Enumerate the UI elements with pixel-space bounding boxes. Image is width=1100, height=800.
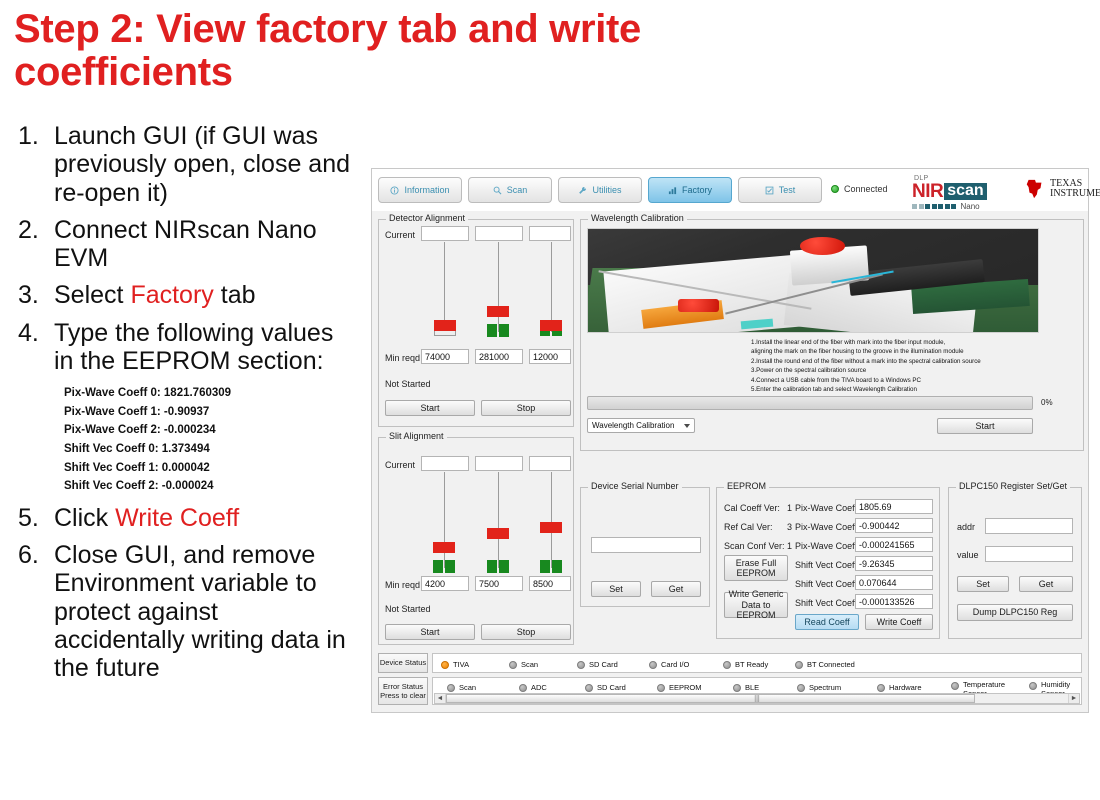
shift-vect-coeff-0-label: Shift Vect Coeff 0: [795, 560, 864, 570]
logo-square: [938, 204, 943, 209]
list-item-text: Connect NIRscan Nano EVM: [54, 216, 354, 273]
value-input[interactable]: [985, 546, 1073, 562]
slit-slider-track-0: [444, 472, 445, 568]
detector-current-input-2[interactable]: [529, 226, 571, 241]
led-label: Scan: [521, 660, 538, 669]
slit-current-input-2[interactable]: [529, 456, 571, 471]
write-generic-line-1: Write Generic: [729, 589, 784, 599]
detector-slider-knob-2[interactable]: [540, 320, 562, 331]
error-status-item-ble[interactable]: BLE: [733, 683, 759, 692]
led-label: SD Card: [597, 683, 626, 692]
list-item-text: Click Write Coeff: [54, 504, 354, 532]
status-led-icon: [441, 661, 449, 669]
shift-vect-coeff-2-label: Shift Vect Coeff 2: [795, 598, 864, 608]
status-led-icon: [795, 661, 803, 669]
coefficient-line: Shift Vec Coeff 0: 1.373494: [64, 440, 364, 459]
connection-status: Connected: [831, 184, 888, 194]
calibration-progress-bar: [587, 396, 1033, 410]
status-led-icon: [585, 684, 593, 692]
scrollbar-gutter[interactable]: |||: [446, 694, 1068, 703]
slit-slider-green-1: [487, 560, 509, 573]
tab-label: Scan: [507, 185, 528, 195]
led-label: Scan: [459, 683, 476, 692]
list-item-number: 1.: [8, 122, 54, 150]
slit-slider-knob-0[interactable]: [433, 542, 455, 553]
status-led-icon: [649, 661, 657, 669]
instruction-line: 1.Install the linear end of the fiber wi…: [751, 338, 981, 347]
shift-vect-coeff-2-input[interactable]: -0.000133526: [855, 594, 933, 609]
coefficient-line: Pix-Wave Coeff 1: -0.90937: [64, 403, 364, 422]
list-item-text: Launch GUI (if GUI was previously open, …: [54, 122, 354, 207]
led-label: ADC: [531, 683, 547, 692]
slit-slider-green-0: [433, 560, 455, 573]
current-label: Current: [385, 460, 415, 470]
panel-title: Slit Alignment: [386, 431, 447, 441]
info-icon: [390, 186, 399, 195]
device-status-item-bt-connected[interactable]: BT Connected: [795, 660, 855, 669]
tab-utilities[interactable]: Utilities: [558, 177, 642, 203]
ti-line-2: INSTRUMENTS: [1050, 189, 1100, 199]
tab-scan[interactable]: Scan: [468, 177, 552, 203]
addr-label: addr: [957, 522, 975, 532]
eeprom-panel: EEPROM Cal Coeff Ver: 1 Ref Cal Ver: 3 S…: [716, 487, 940, 639]
scroll-right-arrow-icon[interactable]: ►: [1068, 694, 1079, 703]
device-status-item-sd-card[interactable]: SD Card: [577, 660, 618, 669]
list-item-number: 2.: [8, 216, 54, 244]
detector-slider-track-1: [498, 242, 499, 332]
logo-square: [912, 204, 917, 209]
tab-bar: Information Scan Utilities Factory Test: [372, 169, 1088, 211]
error-status-item-sd-card[interactable]: SD Card: [585, 683, 626, 692]
value-label: value: [957, 550, 979, 560]
logo-nir-text: NIR: [912, 182, 943, 201]
write-generic-data-button[interactable]: Write Generic Data to EEPROM: [724, 592, 788, 618]
led-label: EEPROM: [669, 683, 702, 692]
detector-min-input-0[interactable]: 74000: [421, 349, 469, 364]
tab-label: Information: [404, 185, 449, 195]
tab-information[interactable]: Information: [378, 177, 462, 203]
register-set-button[interactable]: Set: [957, 576, 1009, 592]
led-label: BT Ready: [735, 660, 768, 669]
ref-cal-ver-value: 3: [787, 522, 792, 532]
error-status-item-scan[interactable]: Scan: [447, 683, 476, 692]
tab-label: Factory: [682, 185, 712, 195]
shift-vect-coeff-1-input[interactable]: 0.070644: [855, 575, 933, 590]
slit-slider-track-1: [498, 472, 499, 568]
status-led-icon: [657, 684, 665, 692]
status-led-icon: [877, 684, 885, 692]
detector-min-input-2[interactable]: 12000: [529, 349, 571, 364]
device-status-item-card-io[interactable]: Card I/O: [649, 660, 689, 669]
list-item-text-post: tab: [214, 281, 256, 309]
list-item-text-pre: Click: [54, 504, 115, 532]
scan-conf-ver-value: 1: [787, 541, 792, 551]
scan-conf-ver-label: Scan Conf Ver:: [724, 541, 785, 551]
tab-factory[interactable]: Factory: [648, 177, 732, 203]
calibration-mode-select[interactable]: Wavelength Calibration: [587, 418, 695, 433]
status-led-icon: [577, 661, 585, 669]
list-item-number: 5.: [8, 504, 54, 532]
pix-wave-coeff-0-input[interactable]: 1805.69: [855, 499, 933, 514]
list-item: 5. Click Write Coeff: [8, 504, 368, 532]
coefficient-line: Pix-Wave Coeff 2: -0.000234: [64, 421, 364, 440]
slit-slider-track-2: [551, 472, 552, 568]
write-coeff-button[interactable]: Write Coeff: [865, 614, 933, 630]
min-reqd-label: Min reqd: [385, 353, 420, 363]
led-label: BT Connected: [807, 660, 855, 669]
tab-label: Utilities: [592, 185, 621, 195]
shift-vect-coeff-0-input[interactable]: -9.26345: [855, 556, 933, 571]
device-status-item-tiva[interactable]: TIVA: [441, 660, 469, 669]
panel-title: EEPROM: [724, 481, 769, 491]
logo-square: [919, 204, 924, 209]
wavelength-calibration-panel: Wavelength Calibration 1.Install the lin…: [580, 219, 1084, 451]
slit-status-text: Not Started: [385, 604, 431, 614]
dlpc150-register-panel: DLPC150 Register Set/Get addr value Set …: [948, 487, 1082, 639]
list-item: 1. Launch GUI (if GUI was previously ope…: [8, 122, 368, 207]
slit-min-input-1[interactable]: 7500: [475, 576, 523, 591]
slit-start-button[interactable]: Start: [385, 624, 475, 640]
led-label: SD Card: [589, 660, 618, 669]
nirscan-gui-window: Information Scan Utilities Factory Test: [371, 168, 1089, 713]
detector-slider-green-1: [487, 324, 509, 337]
error-status-line-1: Error Status: [383, 682, 423, 691]
device-status-label: Device Status: [378, 653, 428, 673]
erase-full-eeprom-line-1: Erase Full: [736, 558, 777, 568]
detector-current-input-1[interactable]: [475, 226, 523, 241]
wrench-icon: [578, 186, 587, 195]
status-led-icon: [951, 682, 959, 690]
slit-min-input-0[interactable]: 4200: [421, 576, 469, 591]
status-led-icon: [447, 684, 455, 692]
erase-full-eeprom-button[interactable]: Erase Full EEPROM: [724, 555, 788, 581]
slit-min-input-2[interactable]: 8500: [529, 576, 571, 591]
led-label: Spectrum: [809, 683, 841, 692]
calibration-mode-value: Wavelength Calibration: [592, 421, 674, 430]
error-status-line-2: Press to clear: [380, 691, 426, 700]
error-status-item-spectrum[interactable]: Spectrum: [797, 683, 841, 692]
calibration-start-button[interactable]: Start: [937, 418, 1033, 434]
page-title: Step 2: View factory tab and write coeff…: [14, 8, 814, 94]
instruction-line: aligning the mark on the fiber housing t…: [751, 347, 981, 356]
instruction-line: 5.Enter the calibration tab and select W…: [751, 385, 981, 394]
status-led-icon: [831, 185, 839, 193]
detector-slider-track-2: [551, 242, 552, 332]
checklist-icon: [765, 186, 774, 195]
list-item-text: Type the following values in the EEPROM …: [54, 319, 354, 376]
steps-list: 1. Launch GUI (if GUI was previously ope…: [8, 122, 368, 691]
error-status-clear-button[interactable]: Error Status Press to clear: [378, 677, 428, 705]
coefficient-line: Shift Vec Coeff 1: 0.000042: [64, 459, 364, 478]
device-serial-number-panel: Device Serial Number Set Get: [580, 487, 710, 607]
led-label: Card I/O: [661, 660, 689, 669]
detector-slider-knob-0[interactable]: [434, 320, 456, 331]
logo-nano-text: Nano: [961, 202, 980, 211]
slit-slider-knob-2[interactable]: [540, 522, 562, 533]
detector-start-button[interactable]: Start: [385, 400, 475, 416]
write-generic-line-2: Data to EEPROM: [725, 600, 787, 621]
status-led-icon: [723, 661, 731, 669]
coefficient-line: Shift Vec Coeff 2: -0.000024: [64, 477, 364, 496]
slit-alignment-panel: Slit Alignment Current Min reqd 4200 750…: [378, 437, 574, 645]
slit-slider-knob-1[interactable]: [487, 528, 509, 539]
detector-min-input-1[interactable]: 281000: [475, 349, 523, 364]
led-label: Hardware: [889, 683, 922, 692]
logo-square: [932, 204, 937, 209]
coefficient-values-list: Pix-Wave Coeff 0: 1821.760309 Pix-Wave C…: [64, 384, 364, 496]
error-status-item-adc[interactable]: ADC: [519, 683, 547, 692]
device-status-box: TIVA Scan SD Card Card I/O BT Ready BT C…: [432, 653, 1082, 673]
read-coeff-button[interactable]: Read Coeff: [795, 614, 859, 630]
led-label: BLE: [745, 683, 759, 692]
error-status-item-eeprom[interactable]: EEPROM: [657, 683, 702, 692]
logo-square: [951, 204, 956, 209]
detector-current-input-0[interactable]: [421, 226, 469, 241]
scrollbar-grip-icon: |||: [754, 695, 759, 702]
min-reqd-label: Min reqd: [385, 580, 420, 590]
slit-current-input-1[interactable]: [475, 456, 523, 471]
detector-slider-knob-1[interactable]: [487, 306, 509, 317]
list-item: 2. Connect NIRscan Nano EVM: [8, 216, 368, 273]
slit-current-input-0[interactable]: [421, 456, 469, 471]
pix-wave-coeff-1-input[interactable]: -0.900442: [855, 518, 933, 533]
slit-stop-button[interactable]: Stop: [481, 624, 571, 640]
status-badge: Connected: [844, 184, 888, 194]
detector-status-text: Not Started: [385, 379, 431, 389]
coefficient-line: Pix-Wave Coeff 0: 1821.760309: [64, 384, 364, 403]
error-status-item-hardware[interactable]: Hardware: [877, 683, 922, 692]
list-item: 3. Select Factory tab: [8, 281, 368, 309]
shift-vect-coeff-1-label: Shift Vect Coeff 1: [795, 579, 864, 589]
register-get-button[interactable]: Get: [1019, 576, 1073, 592]
status-led-icon: [1029, 682, 1037, 690]
detector-alignment-panel: Detector Alignment Current Min reqd 7400…: [378, 219, 574, 427]
device-status-text: Device Status: [380, 658, 426, 667]
progress-percent-label: 0%: [1041, 398, 1053, 407]
status-led-icon: [509, 661, 517, 669]
list-item: 6. Close GUI, and remove Environment var…: [8, 541, 368, 682]
slit-slider-green-2: [540, 560, 562, 573]
list-item-text: Close GUI, and remove Environment variab…: [54, 541, 354, 682]
list-item-number: 6.: [8, 541, 54, 569]
logo-square: [945, 204, 950, 209]
tab-test[interactable]: Test: [738, 177, 822, 203]
texas-state-icon: [1024, 178, 1046, 200]
magnifier-icon: [493, 186, 502, 195]
pix-wave-coeff-2-input[interactable]: -0.000241565: [855, 537, 933, 552]
list-item-text-pre: Select: [54, 281, 130, 309]
serial-get-button[interactable]: Get: [651, 581, 701, 597]
tab-label: Test: [779, 185, 796, 195]
logo-square: [925, 204, 930, 209]
serial-set-button[interactable]: Set: [591, 581, 641, 597]
list-item-number: 3.: [8, 281, 54, 309]
erase-full-eeprom-line-2: EEPROM: [736, 568, 775, 578]
list-item-highlight: Factory: [130, 281, 213, 309]
cal-coeff-ver-label: Cal Coeff Ver:: [724, 503, 780, 513]
list-item-text: Select Factory tab: [54, 281, 354, 309]
scroll-left-arrow-icon[interactable]: ◄: [435, 694, 446, 703]
panel-title: Detector Alignment: [386, 213, 468, 223]
instruction-line: 3.Power on the spectral calibration sour…: [751, 366, 981, 375]
serial-number-input[interactable]: [591, 537, 701, 553]
ti-wordmark: TEXAS INSTRUMENTS: [1050, 179, 1100, 199]
panel-title: Device Serial Number: [588, 481, 682, 491]
texas-instruments-logo: TEXAS INSTRUMENTS: [1024, 178, 1100, 200]
list-item-number: 4.: [8, 319, 54, 347]
list-item: 4. Type the following values in the EEPR…: [8, 319, 368, 376]
nirscan-logo: DLP NIR scan Nano: [912, 175, 1016, 211]
bar-chart-icon: [668, 186, 677, 195]
panel-title: DLPC150 Register Set/Get: [956, 481, 1070, 491]
calibration-setup-photo: [587, 228, 1039, 333]
dump-dlpc150-reg-button[interactable]: Dump DLPC150 Reg: [957, 604, 1073, 621]
calibration-instructions: 1.Install the linear end of the fiber wi…: [751, 338, 981, 404]
ref-cal-ver-label: Ref Cal Ver:: [724, 522, 773, 532]
device-status-item-scan[interactable]: Scan: [509, 660, 538, 669]
logo-scan-text: scan: [944, 183, 986, 200]
cal-coeff-ver-value: 1: [787, 503, 792, 513]
led-label: TIVA: [453, 660, 469, 669]
detector-slider-track-0: [444, 242, 445, 332]
status-led-icon: [733, 684, 741, 692]
instruction-line: 4.Connect a USB cable from the TIVA boar…: [751, 376, 981, 385]
chevron-down-icon: [684, 424, 690, 428]
status-led-icon: [519, 684, 527, 692]
device-status-item-bt-ready[interactable]: BT Ready: [723, 660, 768, 669]
error-status-horizontal-scrollbar[interactable]: ◄ ||| ►: [434, 693, 1080, 704]
scrollbar-thumb[interactable]: |||: [446, 694, 975, 703]
instruction-line: 2.Install the round end of the fiber wit…: [751, 357, 981, 366]
current-label: Current: [385, 230, 415, 240]
detector-stop-button[interactable]: Stop: [481, 400, 571, 416]
addr-input[interactable]: [985, 518, 1073, 534]
list-item-highlight: Write Coeff: [115, 504, 239, 532]
status-led-icon: [797, 684, 805, 692]
panel-title: Wavelength Calibration: [588, 213, 687, 223]
